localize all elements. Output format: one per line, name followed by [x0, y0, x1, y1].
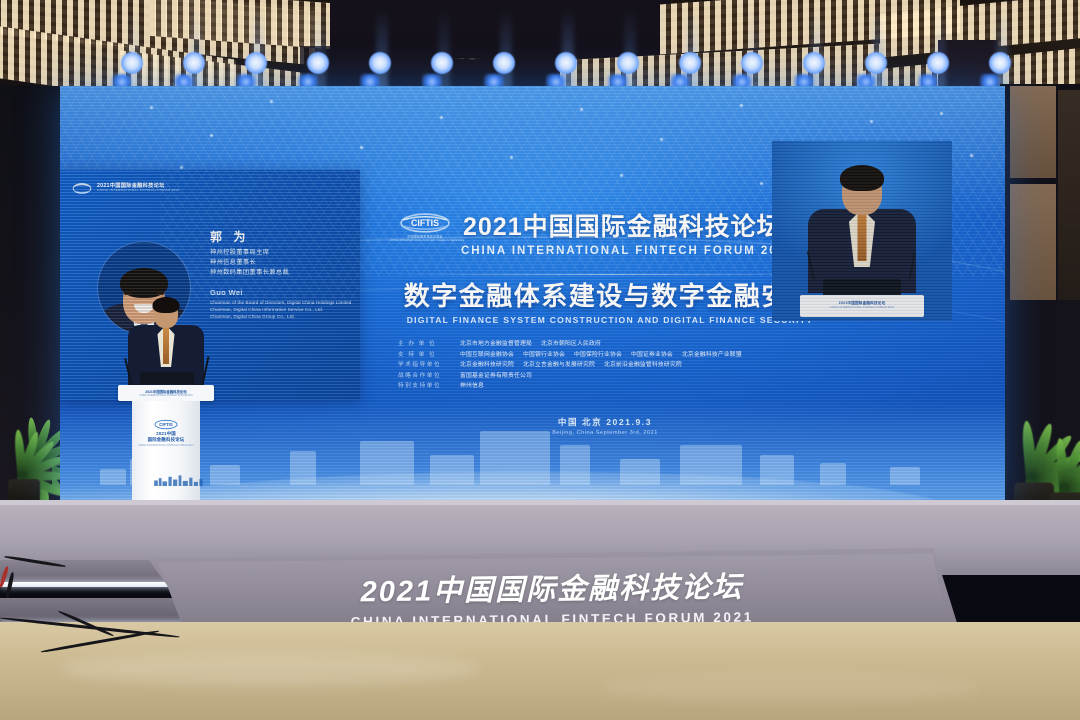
banner-title-cn: 2021中国国际金融科技论坛	[152, 561, 952, 613]
organizer-row: 特别支持单位神州信息	[398, 380, 818, 389]
ciftis-logo-subtitle-cn: 中国国际服务贸易交易会	[391, 235, 460, 239]
organizer-label: 主 办 单 位	[398, 339, 460, 347]
skyline-building	[890, 467, 920, 485]
screen-particle	[620, 174, 623, 177]
podium-top-sign: 2021中国国际金融科技论坛 CHINA INTERNATIONAL FINTE…	[118, 385, 214, 401]
podium: 2021中国国际金融科技论坛 CHINA INTERNATIONAL FINTE…	[118, 385, 214, 515]
organizer-name: 富国基金证券有限责任公司	[460, 370, 532, 379]
moving-head-light	[989, 52, 1011, 74]
conference-stage-photo: CIFTIS 中国国际服务贸易交易会 CHINA INTERNATIONAL F…	[0, 0, 1080, 720]
speaker-title-en: Chairman of the Board of Directors, Digi…	[210, 299, 355, 306]
theme-title-en: DIGITAL FINANCE SYSTEM CONSTRUCTION AND …	[390, 315, 830, 325]
organizer-row: 战略合作单位富国基金证券有限责任公司	[398, 370, 818, 379]
svg-text:CIFTIS: CIFTIS	[411, 218, 439, 228]
organizer-list: 主 办 单 位北京市地方金融监督管理局北京市朝阳区人民政府支 持 单 位中国互联…	[398, 338, 818, 391]
moving-head-light	[617, 52, 639, 74]
moving-head-light	[803, 52, 825, 74]
live-camera-feed: 2021中国国际金融科技论坛 CHINA INTERNATIONAL FINTE…	[772, 141, 952, 321]
speaker-titles-cn: 神州控股董事局主席神州信息董事长神州数码集团董事长兼总裁	[210, 248, 355, 279]
moving-head-light	[865, 52, 887, 74]
organizer-name: 北京市地方金融监督管理局	[460, 338, 532, 347]
moving-head-light	[555, 52, 577, 74]
organizer-name: 中国证券业协会	[631, 349, 673, 358]
podium-panel-en: CHINA INTERNATIONAL FINTECH FORUM 2021	[125, 445, 207, 447]
svg-text:CIFTIS: CIFTIS	[159, 422, 173, 427]
speaker-title-en: Chairman, Digital China Information Serv…	[210, 306, 355, 313]
screen-particle	[970, 154, 973, 157]
screen-particle	[210, 134, 213, 137]
speaker-hair	[153, 297, 180, 313]
feed-podium-sign: 2021中国国际金融科技论坛 CHINA INTERNATIONAL FINTE…	[800, 295, 924, 317]
organizer-row: 主 办 单 位北京市地方金融监督管理局北京市朝阳区人民政府	[398, 338, 818, 347]
screen-particle	[870, 120, 873, 123]
screen-particle	[440, 116, 443, 119]
podium-skyline-graphic	[152, 473, 208, 485]
podium-laptop	[140, 372, 194, 384]
skyline-building	[560, 445, 590, 485]
organizer-name: 中国银行业协会	[523, 349, 565, 358]
screen-particle	[150, 106, 153, 109]
moving-head-light	[493, 52, 515, 74]
screen-header: CIFTIS 中国国际服务贸易交易会 CHINA INTERNATIONAL F…	[395, 212, 825, 257]
skyline-building	[360, 441, 414, 485]
podium-panel-cn-2: 国际金融科技论坛	[132, 437, 200, 443]
screen-particle	[360, 146, 363, 149]
skyline-building	[680, 445, 742, 485]
ciftis-logo-podium: CIFTIS	[153, 417, 179, 428]
podium-column: CIFTIS 2021中国 国际金融科技论坛 CHINA INTERNATION…	[132, 401, 200, 501]
moving-head-light	[245, 52, 267, 74]
moving-head-light	[431, 52, 453, 74]
card-brand-cn: 2021中国国际金融科技论坛	[97, 184, 166, 190]
screen-particle	[940, 112, 943, 115]
screen-particle	[180, 166, 183, 169]
organizer-name: 神州信息	[460, 380, 484, 389]
wall-panel	[1058, 90, 1080, 305]
organizer-name: 北京金融科技产业联盟	[682, 349, 742, 358]
screen-particle	[760, 182, 763, 185]
forum-title-cn: 2021中国国际金融科技论坛	[463, 215, 783, 240]
organizer-row: 学术指导单位北京金融科技研究院北京立言金融与发展研究院北京前沿金融监管科技研究院	[398, 359, 818, 368]
moving-head-light	[369, 52, 391, 74]
screen-particle	[270, 100, 273, 103]
feed-hair	[840, 165, 884, 191]
divider	[395, 274, 825, 275]
portrait-eye	[124, 292, 131, 295]
ciftis-logo: CIFTIS 中国国际服务贸易交易会 CHINA INTERNATIONAL F…	[395, 212, 455, 242]
organizer-label: 支 持 单 位	[398, 350, 460, 358]
moving-head-light	[927, 52, 949, 74]
organizer-name: 北京金融科技研究院	[460, 359, 514, 368]
ciftis-logo-subtitle-en: CHINA INTERNATIONAL FAIR FOR TRADE IN SE…	[391, 240, 460, 243]
skyline-building	[290, 451, 316, 485]
organizer-name: 北京前沿金融监管科技研究院	[604, 359, 682, 368]
speaker-title-cn: 神州数码集团董事长兼总裁	[210, 268, 355, 278]
screen-particle	[660, 138, 663, 141]
organizer-row: 支 持 单 位中国互联网金融协会中国银行业协会中国保险行业协会中国证券业协会北京…	[398, 349, 818, 358]
screen-particle	[580, 108, 583, 111]
moving-head-light	[741, 52, 763, 74]
podium-logo-block: CIFTIS 2021中国 国际金融科技论坛 CHINA INTERNATION…	[132, 417, 200, 447]
speaker-tie	[163, 328, 169, 364]
portrait-hair	[120, 268, 168, 298]
skyline-building	[620, 459, 660, 485]
skyline-building	[820, 463, 846, 485]
feed-laptop	[823, 279, 901, 297]
feed-suit	[808, 209, 916, 293]
feed-microphone	[908, 253, 914, 279]
organizer-name: 中国互联网金融协会	[460, 349, 514, 358]
moving-head-light	[307, 52, 329, 74]
speaker-name-en: Guo Wei	[210, 288, 355, 297]
skyline-building	[210, 465, 240, 485]
card-mesh-pattern	[160, 170, 360, 300]
feed-background	[772, 141, 952, 321]
feed-tie	[858, 213, 867, 261]
feed-speaker	[807, 169, 917, 289]
portrait-eye	[157, 292, 164, 295]
wall-panel	[1010, 184, 1056, 310]
organizer-name: 北京立言金融与发展研究院	[523, 359, 595, 368]
skyline-building	[480, 431, 550, 485]
speaker-title-cn: 神州信息董事长	[210, 258, 355, 268]
speaker-details: 郭 为 神州控股董事局主席神州信息董事长神州数码集团董事长兼总裁 Guo Wei…	[210, 228, 355, 321]
screen-particle	[740, 104, 743, 107]
moving-head-light	[679, 52, 701, 74]
organizer-label: 特别支持单位	[398, 381, 460, 389]
organizer-label: 战略合作单位	[398, 371, 460, 379]
theme-title-cn: 数字金融体系建设与数字金融安全	[390, 282, 830, 311]
ciftis-logo-small	[72, 182, 92, 195]
venue-floor	[0, 622, 1080, 720]
podium-sign-en: CHINA INTERNATIONAL FINTECH FORUM 2021	[108, 394, 223, 396]
organizer-name: 中国保险行业协会	[574, 349, 622, 358]
screen-theme: 数字金融体系建设与数字金融安全 DIGITAL FINANCE SYSTEM C…	[390, 282, 830, 325]
speaker-name-cn: 郭 为	[210, 228, 355, 245]
forum-title-en: CHINA INTERNATIONAL FINTECH FORUM 2021	[461, 245, 825, 257]
moving-head-light	[183, 52, 205, 74]
speaker-title-en: Chairman, Digital China Group Co., Ltd.	[210, 313, 355, 320]
moving-head-light	[121, 52, 143, 74]
podium-sign-cn: 2021中国国际金融科技论坛	[118, 389, 214, 394]
organizer-label: 学术指导单位	[398, 360, 460, 368]
card-brand-en: CHINA INTERNATIONAL FINTECH FORUM 2021	[97, 190, 180, 194]
feed-podium-sign-en: CHINA INTERNATIONAL FINTECH FORUM 2021	[788, 307, 937, 309]
organizer-name: 北京市朝阳区人民政府	[541, 338, 601, 347]
wall-panel	[1010, 86, 1056, 178]
feed-face	[842, 169, 882, 215]
feed-podium-sign-cn: 2021中国国际金融科技论坛	[800, 301, 924, 306]
skyline-building	[430, 455, 474, 485]
screen-particle	[510, 156, 513, 159]
skyline-building	[760, 455, 794, 485]
speaker-titles-en: Chairman of the Board of Directors, Digi…	[210, 299, 355, 321]
feed-shirt	[849, 209, 875, 267]
card-brand-lockup: 2021中国国际金融科技论坛 CHINA INTERNATIONAL FINTE…	[72, 182, 166, 195]
speaker-title-cn: 神州控股董事局主席	[210, 248, 355, 258]
feed-microphone	[807, 251, 815, 281]
